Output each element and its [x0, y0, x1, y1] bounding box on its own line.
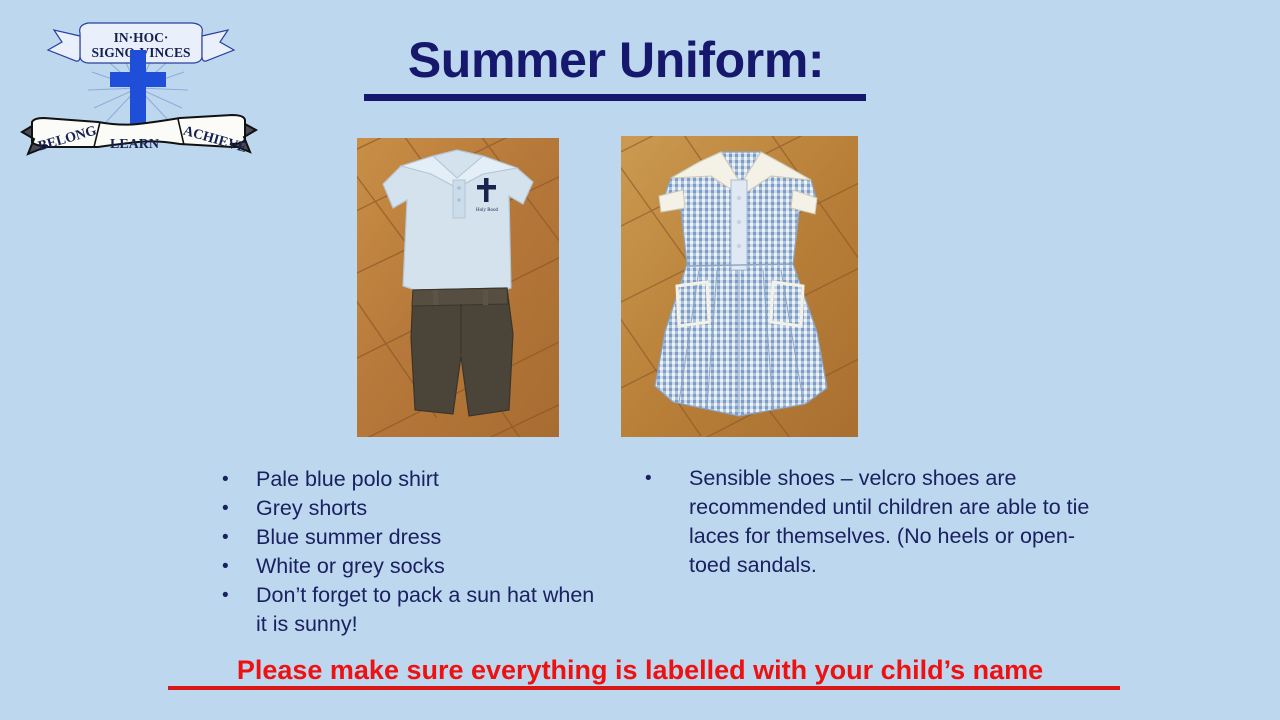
school-crest: IN·HOC· SIGNO·VINCES BELONG LEARN ACHIEV… [14, 6, 264, 166]
labelling-reminder: Please make sure everything is labelled … [0, 655, 1280, 686]
list-item: • Sensible shoes – velcro shoes are reco… [645, 464, 1095, 580]
svg-text:Holy Rood: Holy Rood [476, 208, 499, 213]
photo-polo-shirt-and-shorts: Holy Rood [357, 138, 559, 437]
list-item: • Grey shorts [222, 494, 602, 523]
uniform-items-list: • Pale blue polo shirt • Grey shorts • B… [222, 465, 602, 639]
slide-canvas: IN·HOC· SIGNO·VINCES BELONG LEARN ACHIEV… [0, 0, 1280, 720]
footwear-guidance-list: • Sensible shoes – velcro shoes are reco… [645, 464, 1095, 580]
list-item-label: Blue summer dress [256, 523, 602, 552]
list-item: • Blue summer dress [222, 523, 602, 552]
bullet-marker-icon: • [222, 494, 256, 523]
list-item: • Pale blue polo shirt [222, 465, 602, 494]
bullet-marker-icon: • [222, 552, 256, 581]
banner-center-label: LEARN [110, 137, 159, 152]
bullet-marker-icon: • [645, 464, 689, 493]
list-item-label: White or grey socks [256, 552, 602, 581]
bullet-marker-icon: • [222, 523, 256, 552]
bullet-marker-icon: • [222, 465, 256, 494]
bullet-marker-icon: • [222, 581, 256, 610]
motto-line-1: IN·HOC· [114, 30, 169, 45]
list-item-label: Don’t forget to pack a sun hat when it i… [256, 581, 602, 639]
photo-summer-dress [621, 136, 858, 437]
list-item-label: Grey shorts [256, 494, 602, 523]
labelling-reminder-underline [168, 686, 1120, 690]
page-title: Summer Uniform: [364, 34, 868, 87]
page-title-underline [364, 94, 866, 101]
list-item: • Don’t forget to pack a sun hat when it… [222, 581, 602, 639]
list-item-label: Pale blue polo shirt [256, 465, 602, 494]
list-item-label: Sensible shoes – velcro shoes are recomm… [689, 464, 1095, 580]
list-item: • White or grey socks [222, 552, 602, 581]
